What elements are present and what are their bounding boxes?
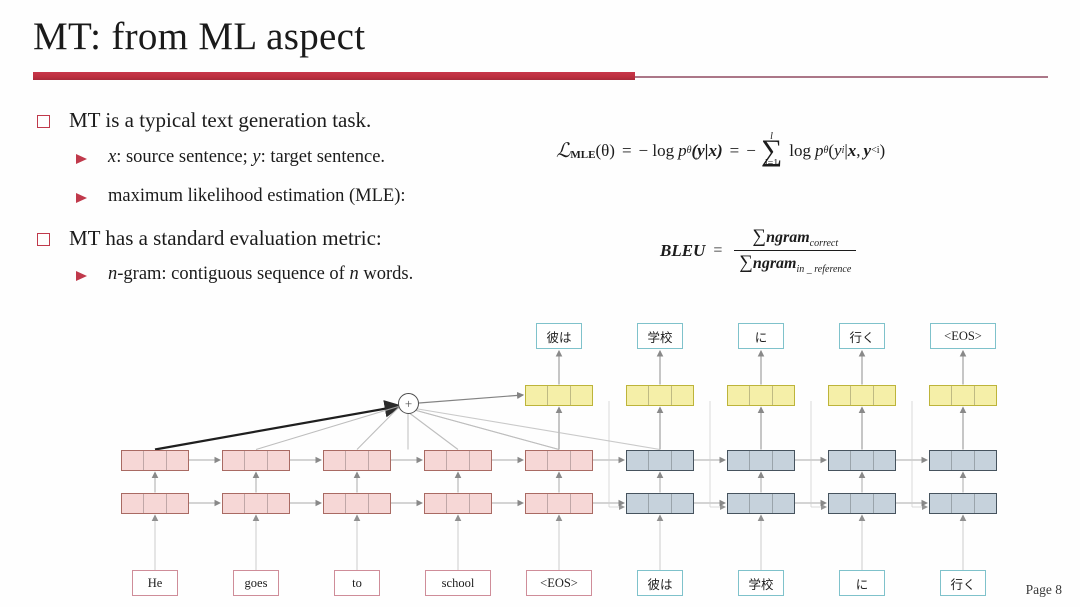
cell-segment	[873, 386, 895, 405]
output-token-box: 彼は	[536, 323, 582, 349]
cell-segment	[749, 494, 771, 513]
ngram-correct-sub: correct	[810, 238, 839, 249]
decoder-cell-layer1	[828, 493, 896, 514]
bullet-text: n-gram: contiguous sequence of n words.	[108, 264, 413, 285]
sigma-icon: ∑	[739, 252, 753, 273]
square-bullet-icon	[37, 233, 50, 246]
decoder-cell-layer2	[626, 450, 694, 471]
encoder-cell-layer1	[121, 493, 189, 514]
cell-segment	[974, 386, 996, 405]
slide-root: MT: from ML aspect MT is a typical text …	[0, 0, 1080, 607]
cell-segment	[143, 451, 165, 470]
cell-segment	[526, 494, 547, 513]
cell-segment	[772, 451, 794, 470]
cell-segment	[244, 451, 266, 470]
y-prev-index: <i	[871, 145, 879, 156]
bleu-label: BLEU	[660, 241, 705, 261]
cell-segment	[425, 494, 446, 513]
cell-segment	[570, 386, 592, 405]
cell-segment	[526, 451, 547, 470]
arrow-bullet-icon	[76, 269, 90, 283]
loss-arg: (θ)	[595, 141, 614, 161]
seq2seq-attention-diagram: Hegoestoschool<EOS>彼は学校に行く彼は学校に行く<EOS>+	[0, 300, 1080, 607]
cell-segment	[829, 386, 850, 405]
encoder-cell-layer1	[525, 493, 593, 514]
cell-segment	[648, 386, 670, 405]
cell-segment	[728, 386, 749, 405]
output-token-box: に	[738, 323, 784, 349]
target-input-token-box: 学校	[738, 570, 784, 596]
source-token-box: <EOS>	[526, 570, 592, 596]
connector	[419, 395, 523, 403]
cell-segment	[850, 386, 872, 405]
cell-segment	[267, 451, 289, 470]
bullet-item-4: MT has a standard evaluation metric:	[37, 226, 382, 251]
cell-segment	[547, 451, 569, 470]
comma: ,	[856, 141, 860, 161]
cell-segment	[570, 451, 592, 470]
cell-segment	[930, 386, 951, 405]
cell-segment	[648, 451, 670, 470]
cell-segment	[772, 386, 794, 405]
decoder-cell-layer2	[727, 450, 795, 471]
cell-segment	[446, 494, 468, 513]
cell-segment	[627, 451, 648, 470]
cell-segment	[850, 451, 872, 470]
loss-symbol: ℒ	[556, 138, 570, 163]
encoder-cell-layer2	[121, 450, 189, 471]
bullet-item-2: x: source sentence; y: target sentence.	[76, 147, 385, 168]
bleu-denominator: ∑ngramin _ reference	[734, 250, 856, 275]
cell-segment	[425, 451, 446, 470]
cell-segment	[244, 494, 266, 513]
neg-log-1: − log	[639, 141, 675, 161]
source-token-box: school	[425, 570, 491, 596]
output-token-box: <EOS>	[930, 323, 996, 349]
source-token-box: He	[132, 570, 178, 596]
ngram-word: ngram	[753, 255, 797, 272]
attention-sum-node: +	[398, 393, 419, 414]
cell-segment	[368, 451, 390, 470]
cell-segment	[873, 451, 895, 470]
cell-segment	[749, 386, 771, 405]
var-x: x	[108, 147, 116, 167]
p-arg-1: (y|x)	[692, 141, 723, 161]
target-input-token-box: に	[839, 570, 885, 596]
cell-segment	[873, 494, 895, 513]
connector	[400, 406, 559, 450]
bullet-text: MT is a typical text generation task.	[69, 108, 371, 133]
source-token-box: to	[334, 570, 380, 596]
encoder-cell-layer1	[323, 493, 391, 514]
log-2: log	[789, 141, 811, 161]
cell-segment	[829, 451, 850, 470]
cell-segment	[974, 494, 996, 513]
p-symbol-1: p	[678, 141, 687, 161]
p-symbol-2: p	[815, 141, 824, 161]
bleu-formula: BLEU = ∑ngramcorrect ∑ngramin _ referenc…	[660, 226, 860, 275]
output-token-box: 行く	[839, 323, 885, 349]
encoder-cell-layer1	[424, 493, 492, 514]
equals-1: =	[622, 141, 632, 161]
ngram-reference-sub: in _ reference	[797, 264, 852, 275]
encoder-cell-layer2	[525, 450, 593, 471]
encoder-cell-layer2	[424, 450, 492, 471]
attention-output-cell	[828, 385, 896, 406]
mle-loss-formula: ℒMLE(θ) = − log pθ(y|x) = − l ∑ i=1 log …	[556, 132, 885, 169]
summation-operator: l ∑ i=1	[759, 132, 784, 169]
cell-segment	[930, 494, 951, 513]
cell-segment	[671, 386, 693, 405]
page-number: Page 8	[1026, 582, 1062, 598]
sigma-icon: ∑	[753, 226, 767, 247]
source-token-box: goes	[233, 570, 279, 596]
x-symbol: x	[848, 141, 857, 161]
cell-segment	[469, 451, 491, 470]
decoder-cell-layer2	[828, 450, 896, 471]
cell-segment	[951, 386, 973, 405]
attention-output-cell	[626, 385, 694, 406]
cell-segment	[324, 494, 345, 513]
cell-segment	[547, 494, 569, 513]
cell-segment	[267, 494, 289, 513]
equals-2: =	[730, 141, 740, 161]
y-prev-symbol: y	[864, 141, 872, 161]
cell-segment	[223, 494, 244, 513]
arrow-bullet-icon	[76, 191, 90, 205]
cell-segment	[166, 451, 188, 470]
cell-segment	[772, 494, 794, 513]
cell-segment	[627, 386, 648, 405]
decoder-cell-layer1	[929, 493, 997, 514]
cell-segment	[526, 386, 547, 405]
attention-output-cell	[525, 385, 593, 406]
arrow-bullet-icon	[76, 152, 90, 166]
cell-segment	[951, 451, 973, 470]
cell-segment	[671, 494, 693, 513]
bleu-numerator: ∑ngramcorrect	[748, 226, 844, 250]
cell-segment	[324, 451, 345, 470]
cell-segment	[345, 451, 367, 470]
bullet-text: x: source sentence; y: target sentence.	[108, 147, 385, 168]
output-token-box: 学校	[637, 323, 683, 349]
var-n: n	[108, 264, 117, 284]
cell-segment	[930, 451, 951, 470]
cell-segment	[122, 494, 143, 513]
bleu-fraction: ∑ngramcorrect ∑ngramin _ reference	[734, 226, 856, 275]
y-symbol: y	[834, 141, 842, 161]
bleu-equals: =	[713, 242, 722, 260]
ngram-word: ngram	[766, 229, 810, 246]
decoder-cell-layer1	[727, 493, 795, 514]
cell-segment	[749, 451, 771, 470]
encoder-cell-layer2	[222, 450, 290, 471]
sigma-icon: ∑	[761, 139, 782, 163]
bullet-text: MT has a standard evaluation metric:	[69, 226, 382, 251]
loss-subscript: MLE	[570, 149, 595, 161]
encoder-cell-layer2	[323, 450, 391, 471]
cell-segment	[143, 494, 165, 513]
cell-segment	[974, 451, 996, 470]
cell-segment	[166, 494, 188, 513]
title-rule-thick	[33, 72, 635, 80]
cell-segment	[850, 494, 872, 513]
decoder-cell-layer1	[626, 493, 694, 514]
minus-2: −	[746, 141, 756, 161]
cell-segment	[223, 451, 244, 470]
decoder-cell-layer2	[929, 450, 997, 471]
target-input-token-box: 行く	[940, 570, 986, 596]
cell-segment	[671, 451, 693, 470]
bullet-text: maximum likelihood estimation (MLE):	[108, 186, 406, 207]
page-title: MT: from ML aspect	[33, 14, 365, 59]
cell-segment	[469, 494, 491, 513]
bullet-item-1: MT is a typical text generation task.	[37, 108, 371, 133]
cell-segment	[728, 451, 749, 470]
connector	[400, 406, 660, 450]
bullet-item-3: maximum likelihood estimation (MLE):	[76, 186, 406, 207]
cell-segment	[570, 494, 592, 513]
cell-segment	[547, 386, 569, 405]
cell-segment	[829, 494, 850, 513]
cell-segment	[446, 451, 468, 470]
var-y: y	[252, 147, 260, 167]
cell-segment	[122, 451, 143, 470]
cell-segment	[648, 494, 670, 513]
cell-segment	[368, 494, 390, 513]
attention-output-cell	[929, 385, 997, 406]
target-input-token-box: 彼は	[637, 570, 683, 596]
var-n: n	[349, 264, 358, 284]
square-bullet-icon	[37, 115, 50, 128]
encoder-cell-layer1	[222, 493, 290, 514]
bullet-item-5: n-gram: contiguous sequence of n words.	[76, 264, 413, 285]
cell-segment	[728, 494, 749, 513]
cell-segment	[345, 494, 367, 513]
cell-segment	[627, 494, 648, 513]
attention-output-cell	[727, 385, 795, 406]
cell-segment	[951, 494, 973, 513]
paren-close: )	[880, 141, 886, 161]
